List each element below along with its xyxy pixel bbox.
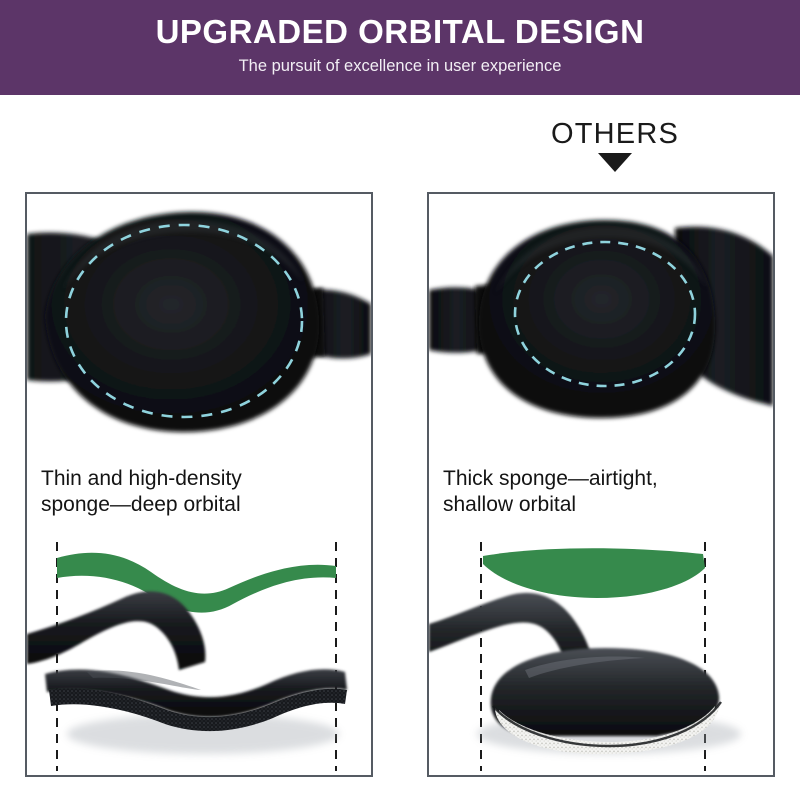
mask-strap-side-left xyxy=(27,591,205,670)
mask-top-photo-left xyxy=(27,194,371,446)
orbital-profile-curve-right xyxy=(483,548,705,598)
caption-right: Thick sponge—airtight, shallow orbital xyxy=(429,446,773,538)
page-subtitle: The pursuit of excellence in user experi… xyxy=(0,57,800,76)
others-callout: OTHERS xyxy=(545,120,685,172)
comparison-panel-left: Thin and high-density sponge—deep orbita… xyxy=(25,192,373,777)
comparison-panel-right: Thick sponge—airtight, shallow orbital xyxy=(427,192,775,777)
caption-right-line2: shallow orbital xyxy=(443,492,759,518)
caption-left-line2: sponge—deep orbital xyxy=(41,492,357,518)
others-label: OTHERS xyxy=(545,120,685,149)
caption-left: Thin and high-density sponge—deep orbita… xyxy=(27,446,371,538)
page-title: UPGRADED ORBITAL DESIGN xyxy=(0,15,800,50)
caption-left-line1: Thin and high-density xyxy=(41,466,357,492)
mask-side-photo-left xyxy=(27,538,371,775)
orbital-profile-curve-left xyxy=(57,553,336,613)
header-banner: UPGRADED ORBITAL DESIGN The pursuit of e… xyxy=(0,0,800,95)
product-comparison-infographic: UPGRADED ORBITAL DESIGN The pursuit of e… xyxy=(0,0,800,800)
caption-right-line1: Thick sponge—airtight, xyxy=(443,466,759,492)
triangle-down-icon xyxy=(598,153,632,172)
mask-top-photo-right xyxy=(429,194,773,446)
mask-side-photo-right xyxy=(429,538,773,775)
